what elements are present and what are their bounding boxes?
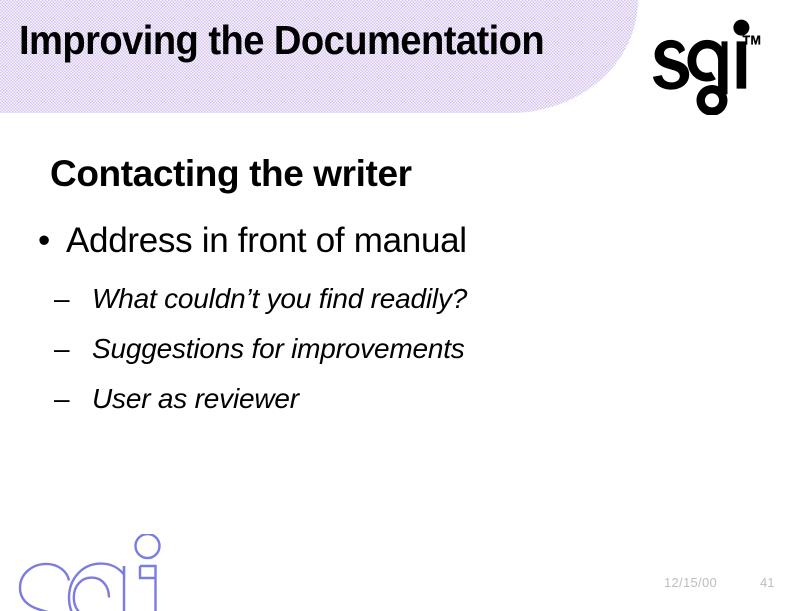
sub-bullet-text: What couldn’t you find readily? (92, 283, 467, 314)
sgi-watermark (6, 534, 202, 611)
sgi-logo (652, 19, 768, 115)
sub-bullet-item: –Suggestions for improvements (54, 333, 465, 365)
sub-bullet-marker: – (54, 283, 92, 315)
sub-bullet-text: Suggestions for improvements (92, 333, 465, 364)
sub-bullet-marker: – (54, 333, 92, 365)
slide-title: Improving the Documentation (19, 18, 544, 63)
sub-bullet-marker: – (54, 383, 92, 415)
bullet-text: Address in front of manual (66, 221, 467, 260)
footer-page-number: 41 (760, 575, 774, 590)
presentation-slide: Improving the Documentation Contacting t… (0, 0, 791, 611)
footer-date: 12/15/00 (664, 575, 717, 590)
sub-bullet-item: –User as reviewer (54, 383, 299, 415)
content-heading: Contacting the writer (50, 153, 412, 195)
sub-bullet-text: User as reviewer (92, 383, 299, 414)
sub-bullet-item: –What couldn’t you find readily? (54, 283, 467, 315)
bullet-marker: • (38, 221, 66, 261)
bullet-item-level1: •Address in front of manual (38, 221, 467, 261)
